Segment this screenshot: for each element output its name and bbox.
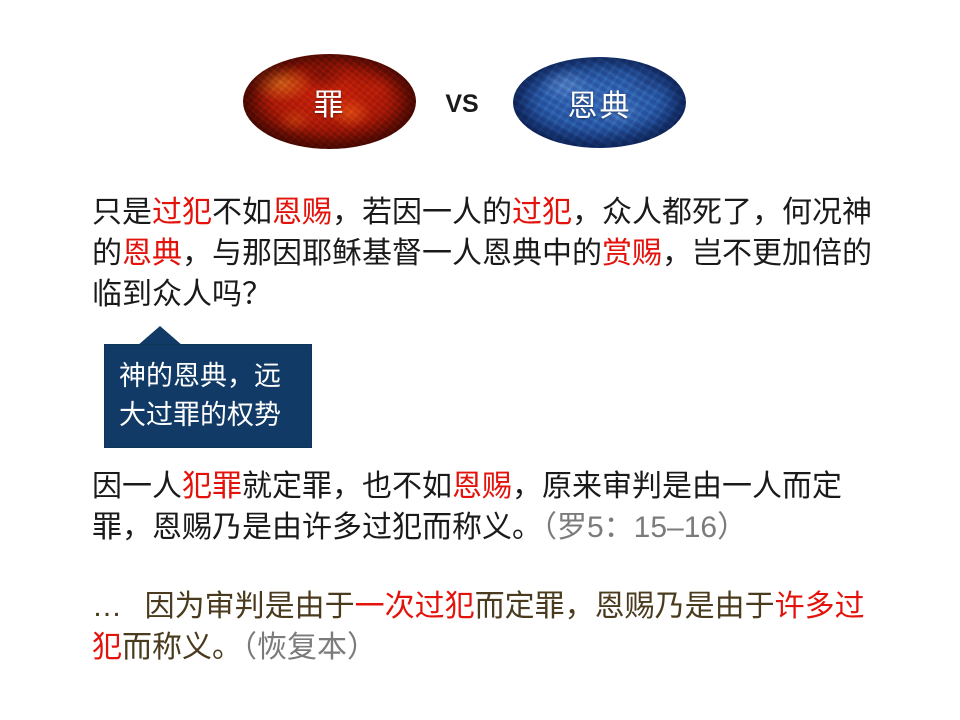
text-segment: 犯罪 (182, 470, 242, 503)
text-segment: 恩赐 (452, 470, 512, 503)
scripture-paragraph-1: 只是过犯不如恩赐，若因一人的过犯，众人都死了，何况神的恩典，与那因耶稣基督一人恩… (92, 192, 882, 315)
scripture-paragraph-3: … 因为审判是由于一次过犯而定罪，恩赐乃是由于许多过犯而称义。（恢复本） (92, 586, 882, 668)
text-segment: （恢复本） (242, 631, 377, 664)
ellipsis-marker: … (92, 590, 145, 623)
text-segment: 只是 (92, 196, 152, 229)
callout-line-1: 神的恩典，远 (119, 357, 311, 396)
scripture-paragraph-2: 因一人犯罪就定罪，也不如恩赐，原来审判是由一人而定罪，恩赐乃是由许多过犯而称义。… (92, 466, 882, 548)
header-comparison-row: 罪 VS 恩典 (0, 0, 960, 175)
text-segment: 恩赐 (272, 196, 332, 229)
sin-ellipse: 罪 (243, 54, 416, 149)
text-segment: （罗5：15–16） (542, 511, 747, 544)
callout-pointer-icon (137, 326, 183, 346)
text-segment: 赏赐 (602, 237, 662, 270)
callout-box: 神的恩典，远 大过罪的权势 (104, 344, 312, 448)
text-segment: 一次过犯 (355, 590, 475, 623)
grace-ellipse: 恩典 (513, 57, 686, 148)
text-segment: 过犯 (152, 196, 212, 229)
versus-label: VS (432, 90, 492, 119)
text-segment: 恩典 (122, 237, 182, 270)
text-segment: ，若因一人的 (332, 196, 512, 229)
sin-ellipse-label: 罪 (314, 80, 346, 124)
grace-ellipse-label: 恩典 (568, 81, 632, 125)
text-segment: 不如 (212, 196, 272, 229)
text-segment: 而称义。 (122, 631, 242, 664)
callout-line-2: 大过罪的权势 (119, 396, 311, 435)
text-segment: 而定罪，恩赐乃是由于 (475, 590, 775, 623)
text-segment: ，与那因耶稣基督一人恩典中的 (182, 237, 602, 270)
text-segment: 因一人 (92, 470, 182, 503)
text-segment: 过犯 (512, 196, 572, 229)
text-segment: 就定罪，也不如 (242, 470, 452, 503)
text-segment: 因为审判是由于 (145, 590, 355, 623)
